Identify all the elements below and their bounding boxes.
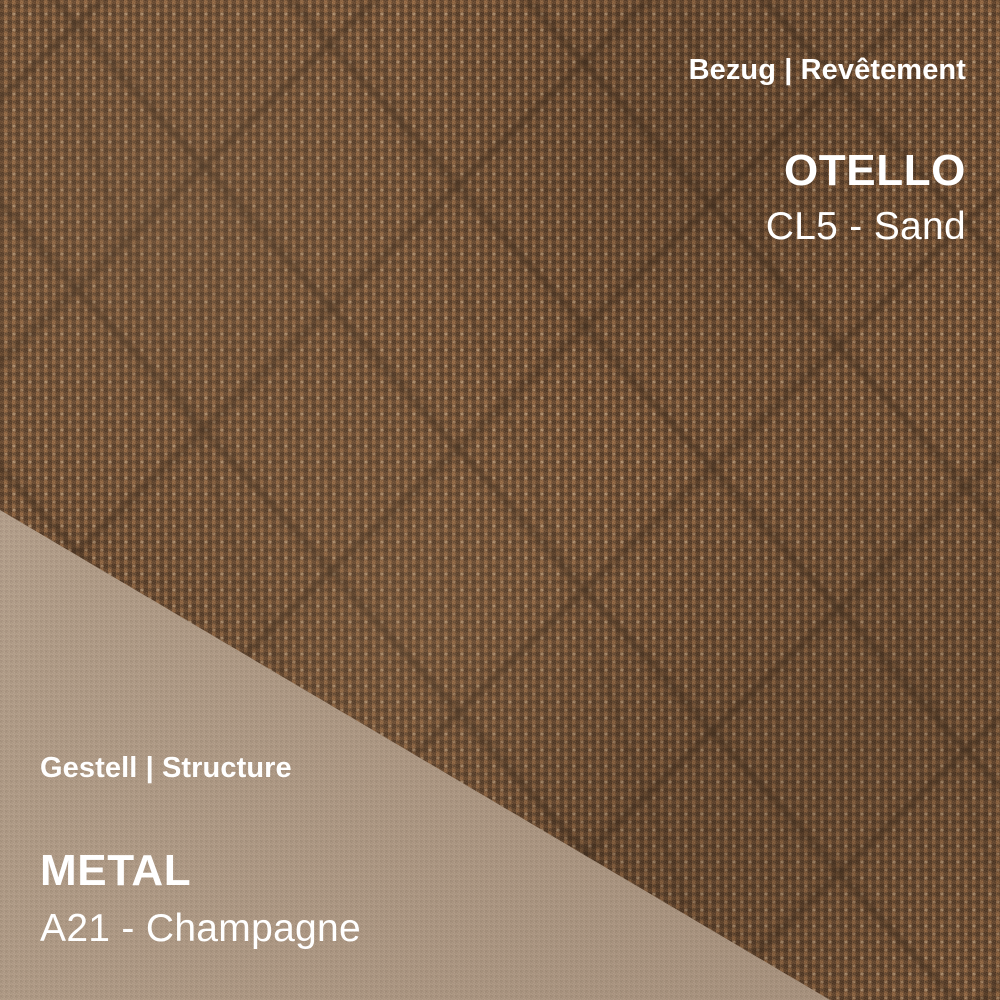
material-swatch-card: Bezug | Revêtement OTELLO CL5 - Sand Ges… xyxy=(0,0,1000,1000)
structure-color-code: A21 - Champagne xyxy=(40,909,361,948)
upholstery-color-code: CL5 - Sand xyxy=(689,207,966,246)
upholstery-label-block: Bezug | Revêtement OTELLO CL5 - Sand xyxy=(689,56,966,246)
upholstery-category-label: Bezug | Revêtement xyxy=(689,56,966,85)
structure-category-label: Gestell | Structure xyxy=(40,754,361,783)
structure-material-name: METAL xyxy=(40,849,361,893)
structure-label-block: Gestell | Structure METAL A21 - Champagn… xyxy=(40,754,361,948)
upholstery-material-name: OTELLO xyxy=(689,149,966,193)
